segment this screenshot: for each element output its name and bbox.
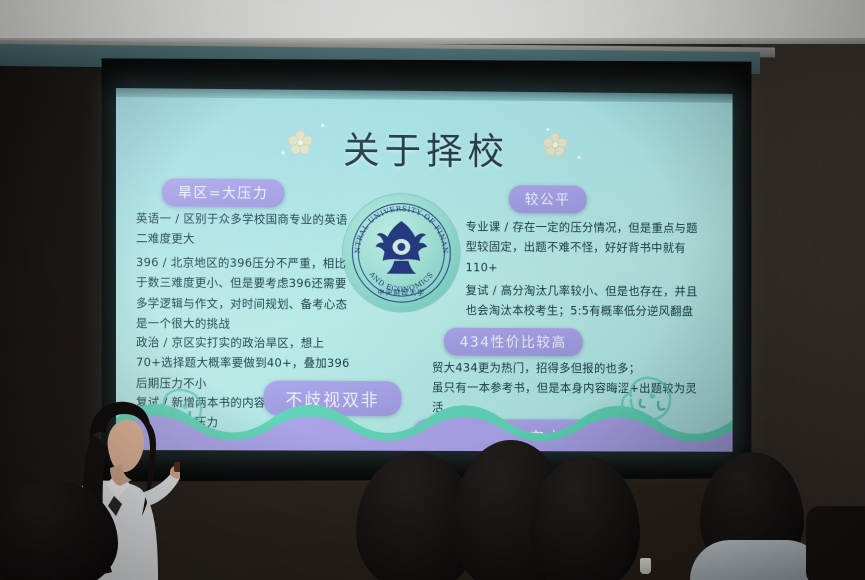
badge-434-value: 434性价比较高 — [444, 328, 583, 356]
paper-cup — [640, 558, 651, 574]
presentation-scene: 关于择校 — [0, 0, 865, 580]
badge-fair: 较公平 — [509, 185, 586, 213]
left-text-2: 396 / 北京地区的396压分不严重，相比于数三难度更小、但是要考虑396还需… — [136, 252, 350, 335]
projected-slide: 关于择校 — [116, 88, 733, 452]
right-text-2: 复试 / 高分淘汰几率较小、但是也存在，并且也会淘汰本校考生；5:5有概率低分逆… — [466, 280, 704, 322]
ceiling — [0, 0, 865, 40]
right-text-1: 专业课 / 存在一定的压分情况，但是重点与题型较固定，出题不难不怪，好好背书中就… — [466, 217, 700, 279]
left-text-1: 英语一 / 区别于众多学校国商专业的英语二难度更大 — [136, 208, 350, 250]
flower-icon — [542, 132, 568, 158]
university-emblem: CENTRAL UNIVERSITY OF FINANCE AND ECONOM… — [343, 194, 460, 312]
wave-decoration — [116, 392, 733, 452]
emblem-crest — [371, 217, 432, 279]
slide-title: 关于择校 — [116, 118, 733, 177]
emblem-chinese-name: 中央财经大学 — [343, 287, 460, 298]
badge-dry-zone: 旱区=大压力 — [162, 178, 284, 207]
flower-icon — [287, 130, 313, 156]
chair-back — [806, 506, 865, 580]
